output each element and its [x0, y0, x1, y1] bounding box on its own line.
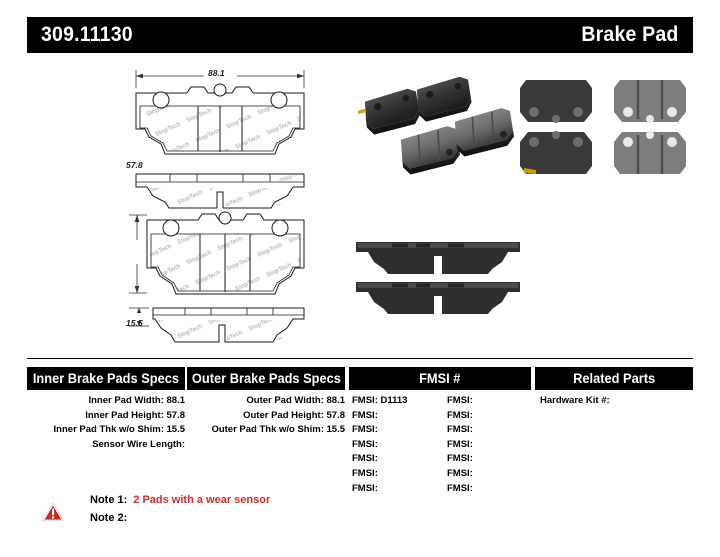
fmsi-row: FMSI:	[352, 409, 444, 424]
dim-label-height: 57.8	[126, 160, 143, 170]
table-top-divider	[27, 358, 693, 359]
dim-label-width: 88.1	[208, 68, 225, 78]
table-body: Inner Pad Width: 88.1 Inner Pad Height: …	[27, 394, 693, 494]
table-header-outer-specs: Outer Brake Pads Specs	[187, 367, 345, 390]
inner-spec-row: Sensor Wire Length:	[27, 438, 185, 453]
outer-specs-list: Outer Pad Width: 88.1 Outer Pad Height: …	[187, 394, 345, 438]
note-2-label: Note 2:	[90, 512, 127, 524]
related-parts-row: Hardware Kit #:	[540, 394, 693, 409]
fmsi-row: FMSI:	[352, 482, 444, 497]
inner-spec-row: Inner Pad Width: 88.1	[27, 394, 185, 409]
fmsi-row: FMSI:	[447, 409, 539, 424]
fmsi-list-right: FMSI: FMSI: FMSI: FMSI: FMSI: FMSI: FMSI…	[447, 394, 539, 496]
fmsi-row: FMSI:	[447, 423, 539, 438]
product-header-bar: 309.11130 Brake Pad	[27, 17, 693, 53]
fmsi-row: FMSI:	[447, 394, 539, 409]
drawing-front-view: StopTech	[125, 66, 315, 176]
fmsi-list-left: FMSI: D1113 FMSI: FMSI: FMSI: FMSI: FMSI…	[352, 394, 444, 496]
fmsi-row: FMSI:	[447, 452, 539, 467]
product-photos-panel	[340, 56, 720, 356]
outer-spec-row: Outer Pad Thk w/o Shim: 15.5	[187, 423, 345, 438]
note-1: Note 1:2 Pads with a wear sensor	[90, 494, 270, 506]
outer-spec-row: Outer Pad Width: 88.1	[187, 394, 345, 409]
fmsi-row: FMSI:	[352, 438, 444, 453]
technical-drawings-panel: StopTech	[0, 56, 340, 356]
note-1-value: 2 Pads with a wear sensor	[133, 494, 270, 506]
note-2: Note 2:	[90, 512, 127, 524]
drawing-thickness-profile	[125, 302, 315, 351]
photo-pads-flat-grid	[512, 72, 702, 187]
outer-spec-row: Outer Pad Height: 57.8	[187, 409, 345, 424]
fmsi-row: FMSI:	[352, 467, 444, 482]
related-parts-list: Hardware Kit #:	[540, 394, 693, 409]
fmsi-row: FMSI:	[447, 482, 539, 497]
fmsi-row: FMSI: D1113	[352, 394, 444, 409]
inner-specs-list: Inner Pad Width: 88.1 Inner Pad Height: …	[27, 394, 185, 452]
table-header-related-parts: Related Parts	[535, 367, 693, 390]
drawing-rear-view	[125, 208, 315, 313]
fmsi-row: FMSI:	[352, 423, 444, 438]
dim-label-thickness: 15.5	[126, 318, 143, 328]
fmsi-row: FMSI:	[352, 452, 444, 467]
inner-spec-row: Inner Pad Thk w/o Shim: 15.5	[27, 423, 185, 438]
photo-pads-angled-view	[352, 74, 522, 184]
fmsi-row: FMSI:	[447, 467, 539, 482]
fmsi-row: FMSI:	[447, 438, 539, 453]
note-1-label: Note 1:	[90, 494, 127, 506]
product-type-title: Brake Pad	[582, 23, 679, 47]
table-header-row: Inner Brake Pads Specs Outer Brake Pads …	[27, 367, 693, 390]
photo-pads-edge-view	[348, 236, 528, 323]
inner-spec-row: Inner Pad Height: 57.8	[27, 409, 185, 424]
table-header-inner-specs: Inner Brake Pads Specs	[27, 367, 185, 390]
part-number: 309.11130	[41, 23, 133, 47]
table-header-fmsi: FMSI #	[349, 367, 531, 390]
warning-triangle-icon	[40, 500, 66, 523]
